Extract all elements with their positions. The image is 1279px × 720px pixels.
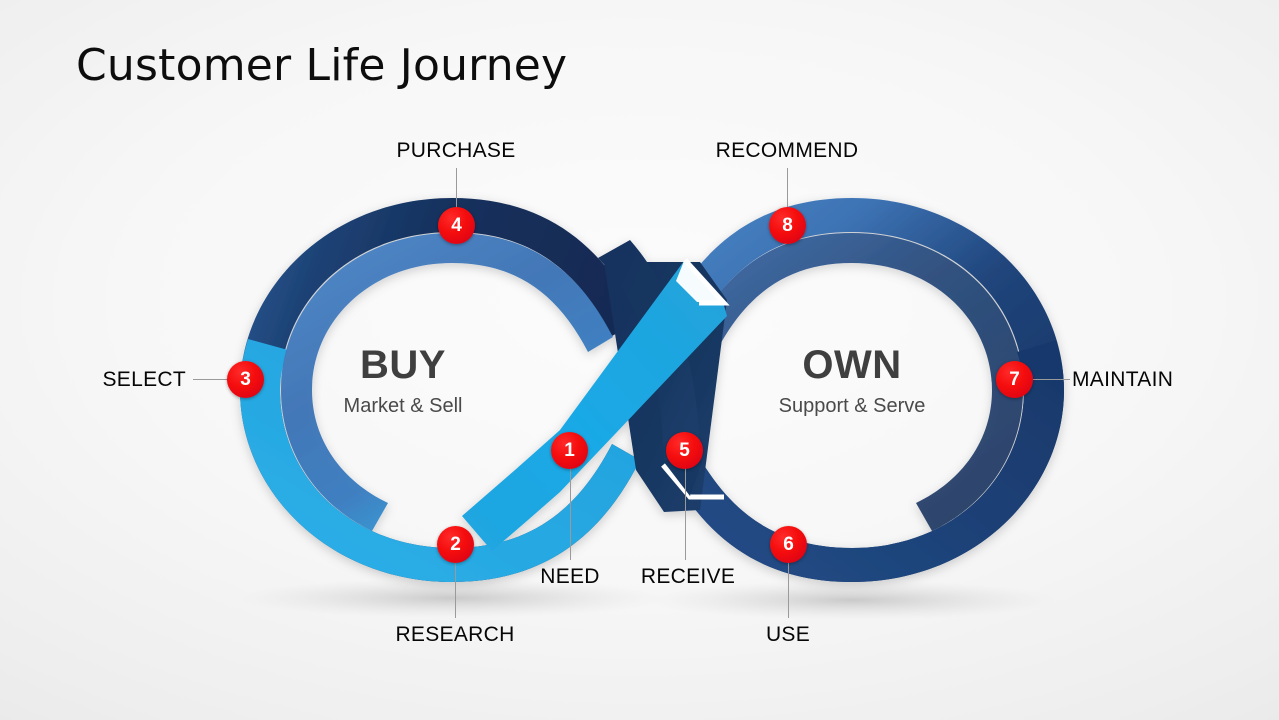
- leader-line-use: [788, 560, 789, 618]
- step-label-maintain: MAINTAIN: [1072, 368, 1173, 392]
- step-badge-6[interactable]: 6: [770, 526, 807, 563]
- step-label-need: NEED: [540, 565, 600, 589]
- step-badge-8[interactable]: 8: [769, 207, 806, 244]
- leader-line-receive: [685, 466, 686, 560]
- leader-line-maintain: [1032, 379, 1070, 380]
- step-badge-1[interactable]: 1: [551, 432, 588, 469]
- step-label-use: USE: [766, 623, 810, 647]
- infinity-diagram: [0, 0, 1279, 720]
- step-label-receive: RECEIVE: [641, 565, 735, 589]
- left-loop-band: [240, 198, 640, 582]
- step-label-select: SELECT: [103, 368, 187, 392]
- step-badge-3[interactable]: 3: [227, 361, 264, 398]
- slide-canvas: Customer Life Journey: [0, 0, 1279, 720]
- step-label-purchase: PURCHASE: [396, 139, 515, 163]
- step-badge-5[interactable]: 5: [666, 432, 703, 469]
- step-label-recommend: RECOMMEND: [716, 139, 859, 163]
- leader-line-research: [455, 560, 456, 618]
- step-badge-4[interactable]: 4: [438, 207, 475, 244]
- step-badge-2[interactable]: 2: [437, 526, 474, 563]
- step-label-research: RESEARCH: [395, 623, 514, 647]
- leader-line-need: [570, 466, 571, 560]
- step-badge-7[interactable]: 7: [996, 361, 1033, 398]
